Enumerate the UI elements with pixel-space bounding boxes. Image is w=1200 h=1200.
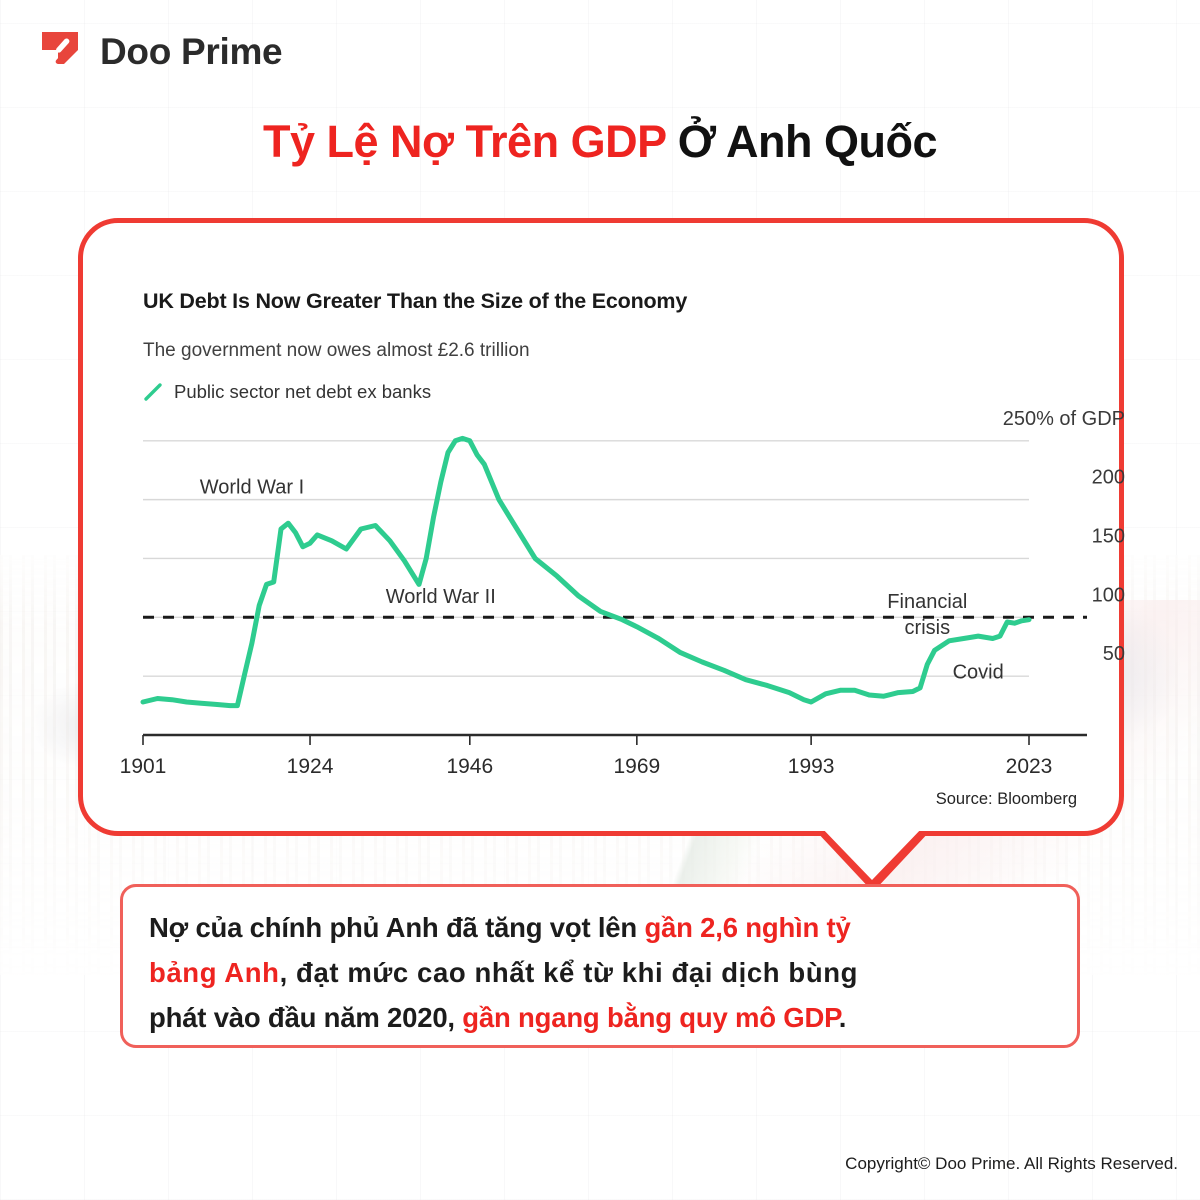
chart-card: UK Debt Is Now Greater Than the Size of …	[78, 218, 1124, 836]
caption-line-2: bảng Anh, đạt mức cao nhất kể từ khi đại…	[149, 950, 1051, 995]
caption-line-3: phát vào đầu năm 2020, gần ngang bằng qu…	[149, 995, 1051, 1040]
x-tick-label: 1946	[446, 755, 493, 778]
caption-line-3-plain: phát vào đầu năm 2020,	[149, 1002, 462, 1033]
chart-annotation: World War II	[386, 586, 496, 608]
chart-plot-area: 250% of GDP20015010050 19011924194619691…	[83, 223, 1129, 841]
chart-annotation: crisis	[905, 617, 951, 639]
x-tick-label: 1924	[287, 755, 334, 778]
chart-annotation: Covid	[953, 662, 1004, 684]
caption-line-1: Nợ của chính phủ Anh đã tăng vọt lên gần…	[149, 905, 1051, 950]
x-tick-label: 1993	[788, 755, 835, 778]
y-tick-label: 250% of GDP	[1003, 408, 1125, 430]
caption-line-2-red: bảng Anh	[149, 957, 280, 988]
chart-annotations: World War IWorld War IIFinancialcrisisCo…	[200, 477, 1004, 684]
page-title-dark: Ở Anh Quốc	[666, 116, 937, 167]
brand-name: Doo Prime	[100, 31, 282, 73]
chart-x-axis-labels: 190119241946196919932023	[120, 755, 1053, 778]
chart-y-axis-labels: 250% of GDP20015010050	[1003, 408, 1125, 665]
bubble-tail-fill	[820, 826, 924, 880]
doo-prime-flag-icon	[38, 28, 86, 76]
y-tick-label: 200	[1092, 467, 1125, 489]
brand-logo[interactable]: Doo Prime	[38, 28, 282, 76]
y-tick-label: 100	[1092, 584, 1125, 606]
x-tick-label: 1969	[613, 755, 660, 778]
caption-line-3-red: gần ngang bằng quy mô GDP	[462, 1002, 838, 1033]
x-tick-label: 1901	[120, 755, 167, 778]
page-title-red: Tỷ Lệ Nợ Trên GDP	[263, 116, 666, 167]
caption-line-1-red: gần 2,6 nghìn tỷ	[644, 912, 850, 943]
caption-line-1-plain: Nợ của chính phủ Anh đã tăng vọt lên	[149, 912, 644, 943]
caption-line-2-plain: , đạt mức cao nhất kể từ khi đại dịch bù…	[280, 957, 858, 988]
y-tick-label: 150	[1092, 525, 1125, 547]
chart-source: Source: Bloomberg	[936, 790, 1077, 809]
chart-annotation: Financial	[887, 591, 967, 613]
chart-annotation: World War I	[200, 477, 304, 499]
page-title: Tỷ Lệ Nợ Trên GDP Ở Anh Quốc	[0, 116, 1200, 168]
y-tick-label: 50	[1103, 643, 1125, 665]
caption-callout: Nợ của chính phủ Anh đã tăng vọt lên gần…	[120, 884, 1080, 1048]
chart-x-axis-ticks	[143, 735, 1029, 745]
footer-copyright: Copyright© Doo Prime. All Rights Reserve…	[845, 1154, 1178, 1174]
caption-line-3-end: .	[839, 1002, 846, 1033]
x-tick-label: 2023	[1006, 755, 1053, 778]
